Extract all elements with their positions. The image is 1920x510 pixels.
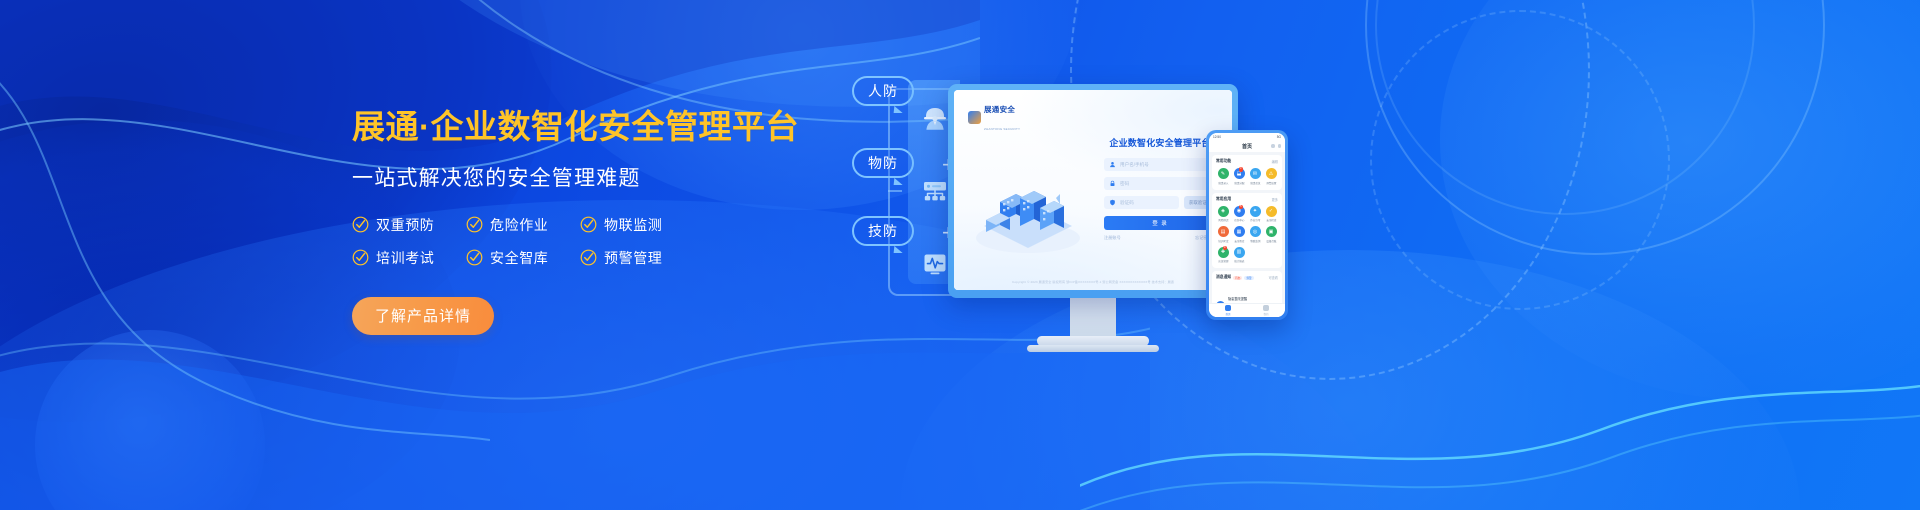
app-icon: ✎ bbox=[1218, 168, 1229, 179]
password-placeholder: 密码 bbox=[1120, 181, 1129, 187]
section-title: 常用应用 bbox=[1216, 197, 1231, 202]
isometric-city-illustration bbox=[970, 164, 1086, 256]
grid-item[interactable]: ▥ 统计报表 bbox=[1232, 247, 1246, 264]
feature-label: 培训考试 bbox=[376, 248, 434, 268]
grid-item[interactable]: ◎ 物联监测 bbox=[1248, 226, 1262, 243]
person-icon bbox=[1263, 305, 1269, 311]
list-item-title: 隐患整改提醒 bbox=[1228, 297, 1247, 301]
login-card: 企业数智化安全管理平台 用户名/手机号 bbox=[1104, 136, 1216, 241]
phone-screen: 12:50 5G 首页 常用功能 编辑 bbox=[1209, 133, 1285, 317]
phone-section-common-apps: 常用应用 更多 ◈ 风险辨识 5 ◉ 任务中心 bbox=[1212, 193, 1282, 269]
phone-nav-actions[interactable] bbox=[1271, 144, 1281, 148]
feature-item: 双重预防 bbox=[352, 215, 466, 235]
grid-item-label: 隐患总览 bbox=[1250, 181, 1260, 185]
feature-label: 双重预防 bbox=[376, 215, 434, 235]
feature-row: 培训考试 安全智库 bbox=[352, 248, 822, 268]
grid-item-label: 应急管理 bbox=[1218, 259, 1228, 263]
captcha-placeholder: 验证码 bbox=[1120, 200, 1134, 206]
grid-item[interactable]: 5 ◉ 任务中心 bbox=[1232, 206, 1246, 223]
captcha-row: 验证码 获取验证码 bbox=[1104, 196, 1216, 209]
user-icon bbox=[1109, 161, 1116, 168]
login-submit-button[interactable]: 登 录 bbox=[1104, 216, 1216, 230]
monitor-base-foot bbox=[1027, 345, 1159, 352]
feature-item: 危险作业 bbox=[466, 215, 580, 235]
monitor-frame: 展通安全 ZHANTONG SECURITY bbox=[948, 84, 1238, 298]
check-circle-icon bbox=[466, 249, 483, 266]
logo-subtext: ZHANTONG SECURITY bbox=[984, 127, 1020, 131]
grid-item[interactable]: ⚠ 预警处置 bbox=[1264, 168, 1278, 185]
feature-item: 物联监测 bbox=[580, 215, 694, 235]
check-circle-icon bbox=[466, 216, 483, 233]
section-header: 常用应用 更多 bbox=[1216, 197, 1278, 202]
phone-nav-bar: 首页 bbox=[1209, 140, 1285, 152]
feature-list: 双重预防 危险作业 bbox=[352, 215, 822, 268]
section-more-link[interactable]: 可查看 bbox=[1268, 275, 1278, 280]
grid-item-label: 隐患录入 bbox=[1218, 181, 1228, 185]
grid-item[interactable]: ▣ 设备台账 bbox=[1264, 226, 1278, 243]
shield-icon bbox=[1109, 199, 1116, 206]
feature-label: 预警管理 bbox=[604, 248, 662, 268]
grid-item-label: 风险辨识 bbox=[1218, 218, 1228, 222]
grid-item[interactable]: ✦ 作业许可 bbox=[1248, 206, 1262, 223]
settings-gear-icon[interactable] bbox=[1278, 144, 1282, 148]
tab-home[interactable]: 首页 bbox=[1225, 305, 1231, 316]
password-field[interactable]: 密码 bbox=[1104, 177, 1216, 190]
app-icon: ▦ bbox=[1234, 226, 1245, 237]
badge-count: 3 bbox=[1239, 167, 1244, 172]
feature-item: 预警管理 bbox=[580, 248, 694, 268]
section-header: 常用功能 编辑 bbox=[1216, 159, 1278, 164]
app-icon: ✦ bbox=[1250, 206, 1261, 217]
monitor-neck bbox=[1070, 298, 1116, 336]
grid-item-label: 安全智库 bbox=[1234, 239, 1244, 243]
desktop-monitor: 展通安全 ZHANTONG SECURITY bbox=[948, 84, 1238, 352]
learn-more-button[interactable]: 了解产品详情 bbox=[352, 297, 494, 335]
app-icon: ▥ bbox=[1234, 247, 1245, 258]
feature-item: 培训考试 bbox=[352, 248, 466, 268]
app-icon: ✉ bbox=[1250, 168, 1261, 179]
section-header: 消息通知 待办 预警 可查看 bbox=[1216, 275, 1278, 280]
login-title: 企业数智化安全管理平台 bbox=[1104, 136, 1216, 149]
check-circle-icon bbox=[352, 249, 369, 266]
app-icon: ◎ bbox=[1250, 226, 1261, 237]
section-title: 消息通知 bbox=[1216, 275, 1231, 280]
grid-item-label: 任务中心 bbox=[1234, 218, 1244, 222]
grid-item-label: 预警处置 bbox=[1266, 181, 1276, 185]
hero-banner: 展通·企业数智化安全管理平台 一站式解决您的安全管理难题 双重预防 bbox=[0, 0, 1920, 510]
grid-item[interactable]: ▦ 安全智库 bbox=[1232, 226, 1246, 243]
feature-label: 物联监测 bbox=[604, 215, 662, 235]
check-circle-icon bbox=[352, 216, 369, 233]
app-icon: ▣ bbox=[1266, 226, 1277, 237]
check-circle-icon bbox=[580, 216, 597, 233]
badge-count: 9 bbox=[1223, 246, 1228, 251]
username-placeholder: 用户名/手机号 bbox=[1120, 162, 1149, 168]
home-icon bbox=[1225, 305, 1231, 311]
lock-icon bbox=[1109, 180, 1116, 187]
grid-item-label: 作业许可 bbox=[1250, 218, 1260, 222]
web-login-page: 展通安全 ZHANTONG SECURITY bbox=[954, 90, 1232, 290]
phone-status-bar: 12:50 5G bbox=[1209, 133, 1285, 140]
function-grid: ✎ 隐患录入 3 ⬓ 隐患分配 ✉ 隐患总览 ⚠ bbox=[1216, 168, 1278, 185]
feature-label: 危险作业 bbox=[490, 215, 548, 235]
monitor-screen: 展通安全 ZHANTONG SECURITY bbox=[954, 90, 1232, 290]
grid-item-label: 物联监测 bbox=[1250, 239, 1260, 243]
feature-row: 双重预防 危险作业 bbox=[352, 215, 822, 235]
grid-item[interactable]: ✉ 隐患总览 bbox=[1248, 168, 1262, 185]
mobile-phone-mockup: 12:50 5G 首页 常用功能 编辑 bbox=[1206, 130, 1288, 320]
captcha-field[interactable]: 验证码 bbox=[1104, 196, 1179, 209]
icon-strip bbox=[892, 84, 954, 280]
logo-mark-icon bbox=[968, 111, 981, 124]
section-title: 常用功能 bbox=[1216, 159, 1231, 164]
grid-item[interactable]: ▤ 培训考试 bbox=[1216, 226, 1230, 243]
login-links: 注册账号 忘记密码？ bbox=[1104, 235, 1216, 241]
register-link[interactable]: 注册账号 bbox=[1104, 235, 1121, 241]
notice-chip[interactable]: 预警 bbox=[1244, 276, 1253, 280]
section-more-link[interactable]: 更多 bbox=[1272, 197, 1278, 202]
app-icon: ◈ bbox=[1218, 206, 1229, 217]
notice-header-left: 消息通知 待办 预警 bbox=[1216, 275, 1254, 280]
logo-text: 展通安全 bbox=[984, 105, 1015, 114]
section-more-link[interactable]: 编辑 bbox=[1272, 159, 1278, 164]
hero-copy: 展通·企业数智化安全管理平台 一站式解决您的安全管理难题 双重预防 bbox=[352, 108, 822, 335]
tab-profile[interactable]: 我的 bbox=[1263, 305, 1269, 316]
grid-item-label: 隐患分配 bbox=[1234, 181, 1244, 185]
phone-section-common-functions: 常用功能 编辑 ✎ 隐患录入 3 ⬓ 隐患分配 bbox=[1212, 155, 1282, 190]
grid-item[interactable]: 3 ⬓ 隐患分配 bbox=[1232, 168, 1246, 185]
page-title: 展通·企业数智化安全管理平台 bbox=[352, 108, 822, 147]
feature-label: 安全智库 bbox=[490, 248, 548, 268]
product-logo: 展通安全 ZHANTONG SECURITY bbox=[968, 99, 1020, 135]
grid-item[interactable]: 9 ✚ 应急管理 bbox=[1216, 247, 1230, 264]
more-icon[interactable] bbox=[1271, 144, 1275, 148]
device-showcase: 人防 物防 技防 + + bbox=[840, 0, 1920, 510]
page-subtitle: 一站式解决您的安全管理难题 bbox=[352, 162, 822, 192]
app-icon: ✓ bbox=[1266, 206, 1277, 217]
grid-item[interactable]: ✓ 安全检查 bbox=[1264, 206, 1278, 223]
status-time: 12:50 bbox=[1213, 135, 1221, 139]
app-icon: ▤ bbox=[1218, 226, 1229, 237]
grid-item[interactable]: ◈ 风险辨识 bbox=[1216, 206, 1230, 223]
page-footer: Copyright © 2023 展通安全 版权所有 浙ICP备XXXXXXXX… bbox=[954, 280, 1232, 285]
grid-item-label: 设备台账 bbox=[1266, 239, 1276, 243]
grid-item-label: 安全检查 bbox=[1266, 218, 1276, 222]
notice-chip[interactable]: 待办 bbox=[1233, 276, 1242, 280]
phone-nav-title: 首页 bbox=[1242, 143, 1252, 150]
check-circle-icon bbox=[580, 249, 597, 266]
grid-item[interactable]: ✎ 隐患录入 bbox=[1216, 168, 1230, 185]
feature-item: 安全智库 bbox=[466, 248, 580, 268]
app-icon: ⚠ bbox=[1266, 168, 1277, 179]
grid-item-label: 统计报表 bbox=[1234, 259, 1244, 263]
grid-item-label: 培训考试 bbox=[1218, 239, 1228, 243]
status-network: 5G bbox=[1277, 135, 1281, 139]
tab-label: 首页 bbox=[1225, 312, 1230, 316]
phone-tab-bar: 首页 我的 bbox=[1209, 303, 1285, 317]
tab-label: 我的 bbox=[1263, 312, 1268, 316]
bg-blob-lower-left bbox=[35, 330, 265, 510]
username-field[interactable]: 用户名/手机号 bbox=[1104, 158, 1216, 171]
app-grid: ◈ 风险辨识 5 ◉ 任务中心 ✦ 作业许可 ✓ bbox=[1216, 206, 1278, 264]
badge-count: 5 bbox=[1239, 205, 1244, 210]
